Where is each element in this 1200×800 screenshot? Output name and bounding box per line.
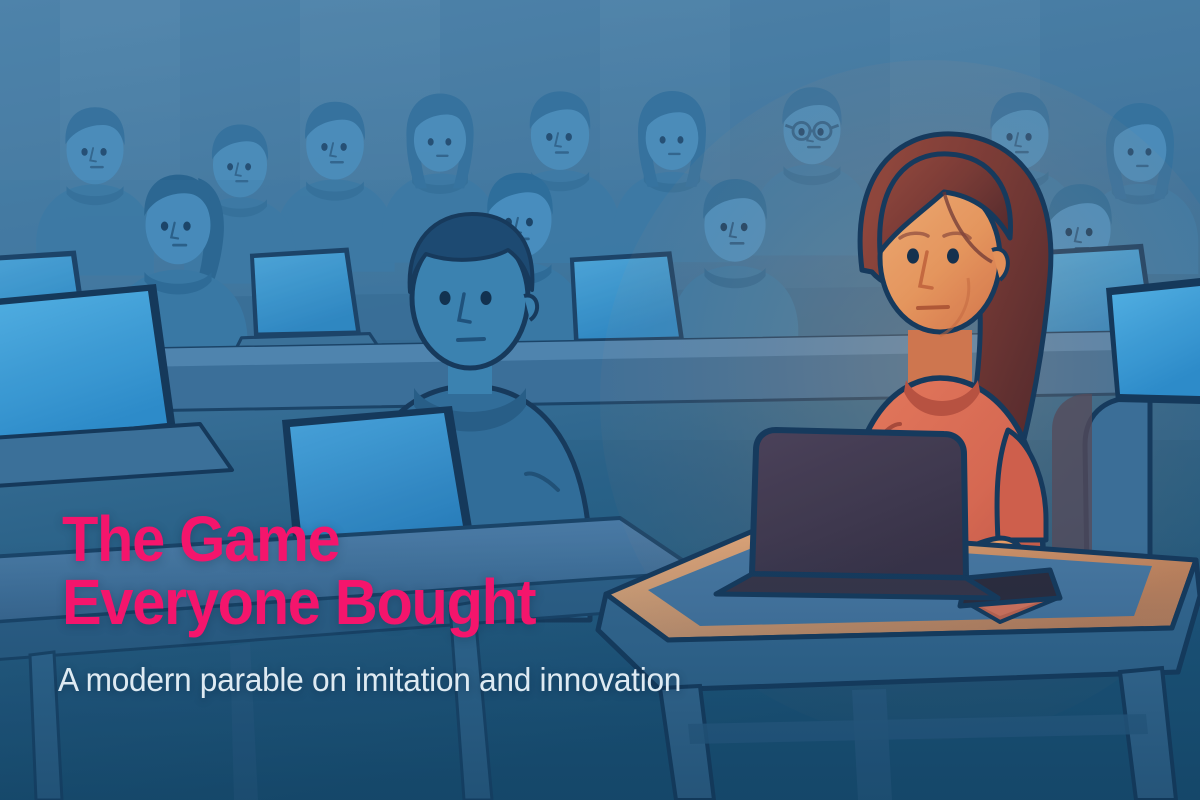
classroom-illustration <box>0 0 1200 800</box>
poster-canvas: The Game Everyone Bought A modern parabl… <box>0 0 1200 800</box>
